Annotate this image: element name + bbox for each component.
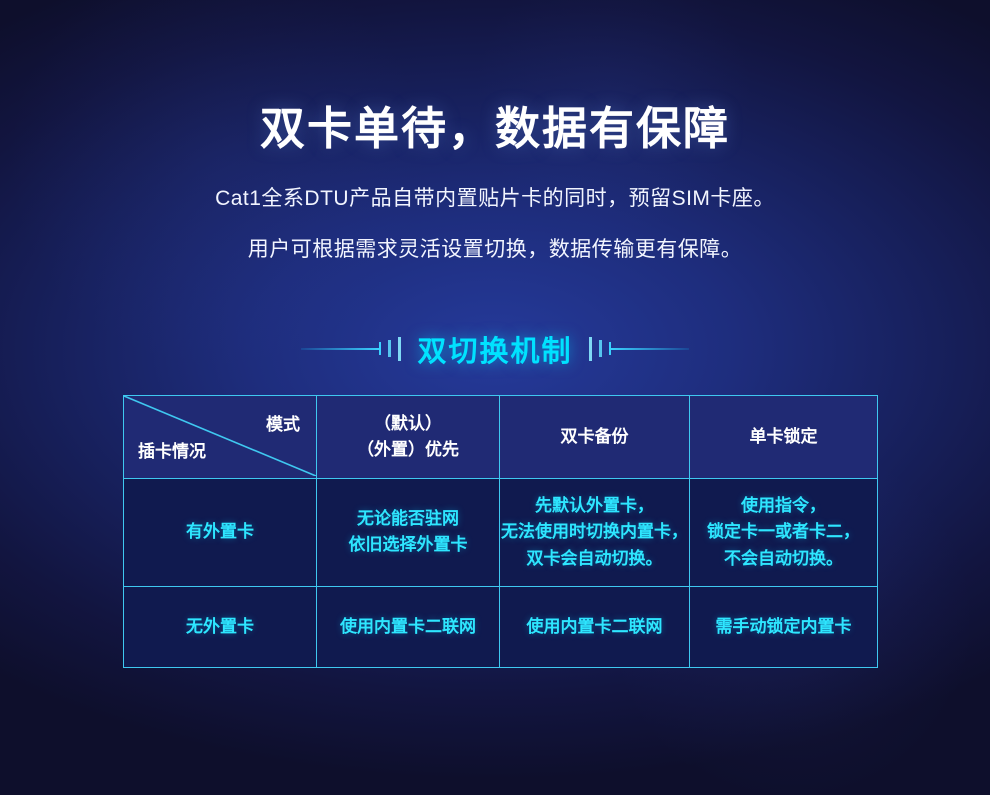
row-1-cell-0-line-0: 使用内置卡二联网 bbox=[318, 614, 498, 640]
corner-mode-label: 模式 bbox=[266, 412, 300, 438]
page-title: 双卡单待，数据有保障 bbox=[0, 0, 990, 155]
section-heading: 双切换机制 bbox=[0, 329, 990, 369]
row-0-cell-1-line-2: 双卡会自动切换。 bbox=[501, 546, 688, 572]
rule-bar-small-right-icon bbox=[599, 340, 602, 357]
rule-line-left-icon bbox=[301, 348, 379, 350]
rule-bar-large-right-icon bbox=[589, 337, 592, 361]
row-0-cell-1-line-0: 先默认外置卡， bbox=[501, 493, 688, 519]
row-0-cell-1-line-1: 无法使用时切换内置卡， bbox=[501, 519, 688, 545]
header-col-1-line-1: （默认） bbox=[318, 411, 498, 437]
header-col-2-line-1: 双卡备份 bbox=[501, 424, 688, 450]
table-header-col-2: 双卡备份 bbox=[500, 395, 690, 478]
subtitle-line-2: 用户可根据需求灵活设置切换，数据传输更有保障。 bbox=[0, 210, 990, 261]
row-1-cell-1: 使用内置卡二联网 bbox=[500, 586, 690, 667]
row-0-cell-0-line-0: 无论能否驻网 bbox=[318, 506, 498, 532]
row-0-cell-2: 使用指令， 锁定卡一或者卡二， 不会自动切换。 bbox=[690, 478, 878, 586]
table-header-row: 模式 插卡情况 （默认） （外置）优先 双卡备份 单卡锁定 bbox=[124, 395, 878, 478]
rule-line-right-icon bbox=[611, 348, 689, 350]
table-header-col-1: （默认） （外置）优先 bbox=[317, 395, 500, 478]
table-corner-cell: 模式 插卡情况 bbox=[124, 395, 317, 478]
switch-mechanism-table: 模式 插卡情况 （默认） （外置）优先 双卡备份 单卡锁定 bbox=[123, 395, 878, 668]
decorative-rule-left bbox=[301, 335, 401, 363]
corner-state-label: 插卡情况 bbox=[138, 439, 206, 465]
row-0-cell-2-line-2: 不会自动切换。 bbox=[691, 546, 876, 572]
header-col-1-line-2: （外置）优先 bbox=[318, 437, 498, 463]
row-0-cell-0: 无论能否驻网 依旧选择外置卡 bbox=[317, 478, 500, 586]
page-content: 双卡单待，数据有保障 Cat1全系DTU产品自带内置贴片卡的同时，预留SIM卡座… bbox=[0, 0, 990, 668]
row-0-cell-1: 先默认外置卡， 无法使用时切换内置卡， 双卡会自动切换。 bbox=[500, 478, 690, 586]
row-1-cell-2: 需手动锁定内置卡 bbox=[690, 586, 878, 667]
row-1-cell-0: 使用内置卡二联网 bbox=[317, 586, 500, 667]
switch-mechanism-table-wrapper: 模式 插卡情况 （默认） （外置）优先 双卡备份 单卡锁定 bbox=[123, 395, 867, 668]
row-1-cell-2-line-0: 需手动锁定内置卡 bbox=[691, 614, 876, 640]
header-col-3-line-1: 单卡锁定 bbox=[691, 424, 876, 450]
row-0-cell-0-line-1: 依旧选择外置卡 bbox=[318, 532, 498, 558]
table-row: 有外置卡 无论能否驻网 依旧选择外置卡 先默认外置卡， 无法使用时切换内置卡， … bbox=[124, 478, 878, 586]
table-row: 无外置卡 使用内置卡二联网 使用内置卡二联网 需手动锁定内置卡 bbox=[124, 586, 878, 667]
rule-bar-small-left-icon bbox=[388, 340, 391, 357]
decorative-rule-right bbox=[589, 335, 689, 363]
row-0-label: 有外置卡 bbox=[124, 478, 317, 586]
section-title: 双切换机制 bbox=[401, 328, 588, 370]
row-0-cell-2-line-1: 锁定卡一或者卡二， bbox=[691, 519, 876, 545]
table-header-col-3: 单卡锁定 bbox=[690, 395, 878, 478]
row-0-cell-2-line-0: 使用指令， bbox=[691, 493, 876, 519]
promo-page: 双卡单待，数据有保障 Cat1全系DTU产品自带内置贴片卡的同时，预留SIM卡座… bbox=[0, 0, 990, 795]
row-1-label: 无外置卡 bbox=[124, 586, 317, 667]
subtitle-line-1: Cat1全系DTU产品自带内置贴片卡的同时，预留SIM卡座。 bbox=[0, 155, 990, 210]
row-1-cell-1-line-0: 使用内置卡二联网 bbox=[501, 614, 688, 640]
rule-tick-left-icon bbox=[379, 342, 381, 355]
